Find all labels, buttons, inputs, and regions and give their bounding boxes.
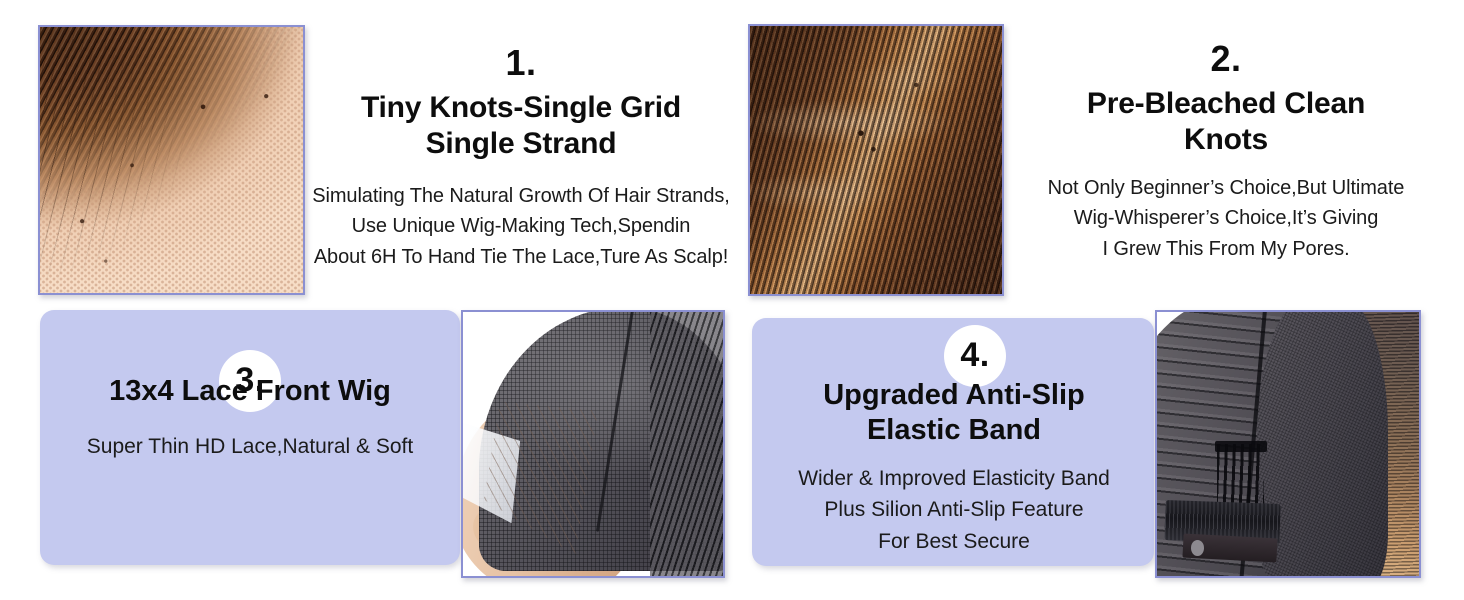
knot-dots-layer [40,27,303,293]
feature-1-text: 1. Tiny Knots-Single Grid Single Strand … [306,44,736,272]
feature-1-title: Tiny Knots-Single Grid Single Strand [306,90,736,163]
feature-2-number: 2. [1006,40,1446,78]
knot-dots-layer [750,26,1002,294]
elastic-band-cap-photo [1157,312,1419,576]
feature-1-body: Simulating The Natural Growth Of Hair St… [306,181,736,272]
feature-4-number: 4. [960,338,989,374]
lace-front-wig-photo [463,312,723,576]
feature-3-body: Super Thin HD Lace,Natural & Soft [45,431,455,463]
feature-1-number: 1. [306,44,736,82]
adjustable-comb-teeth [1217,444,1264,507]
wig-wefts [650,310,725,578]
feature-2-body: Not Only Beginner’s Choice,But Ultimate … [1006,173,1446,264]
feature-4-text: Upgraded Anti-Slip Elastic Band Wider & … [760,378,1148,557]
feature-2-title: Pre-Bleached Clean Knots [1006,86,1446,159]
lace-closeup-photo [40,27,303,293]
feature-3-text: 13x4 Lace Front Wig Super Thin HD Lace,N… [45,352,455,463]
feature-3-image [461,310,725,578]
feature-4-image [1155,310,1421,578]
feature-2-text: 2. Pre-Bleached Clean Knots Not Only Beg… [1006,40,1446,264]
feature-4-body: Wider & Improved Elasticity Band Plus Si… [760,463,1148,558]
feature-4-title: Upgraded Anti-Slip Elastic Band [760,378,1148,449]
feature-1-image [38,25,305,295]
bleached-knots-photo [750,26,1002,294]
feature-2-image [748,24,1004,296]
feature-3-title: 13x4 Lace Front Wig [45,374,455,409]
